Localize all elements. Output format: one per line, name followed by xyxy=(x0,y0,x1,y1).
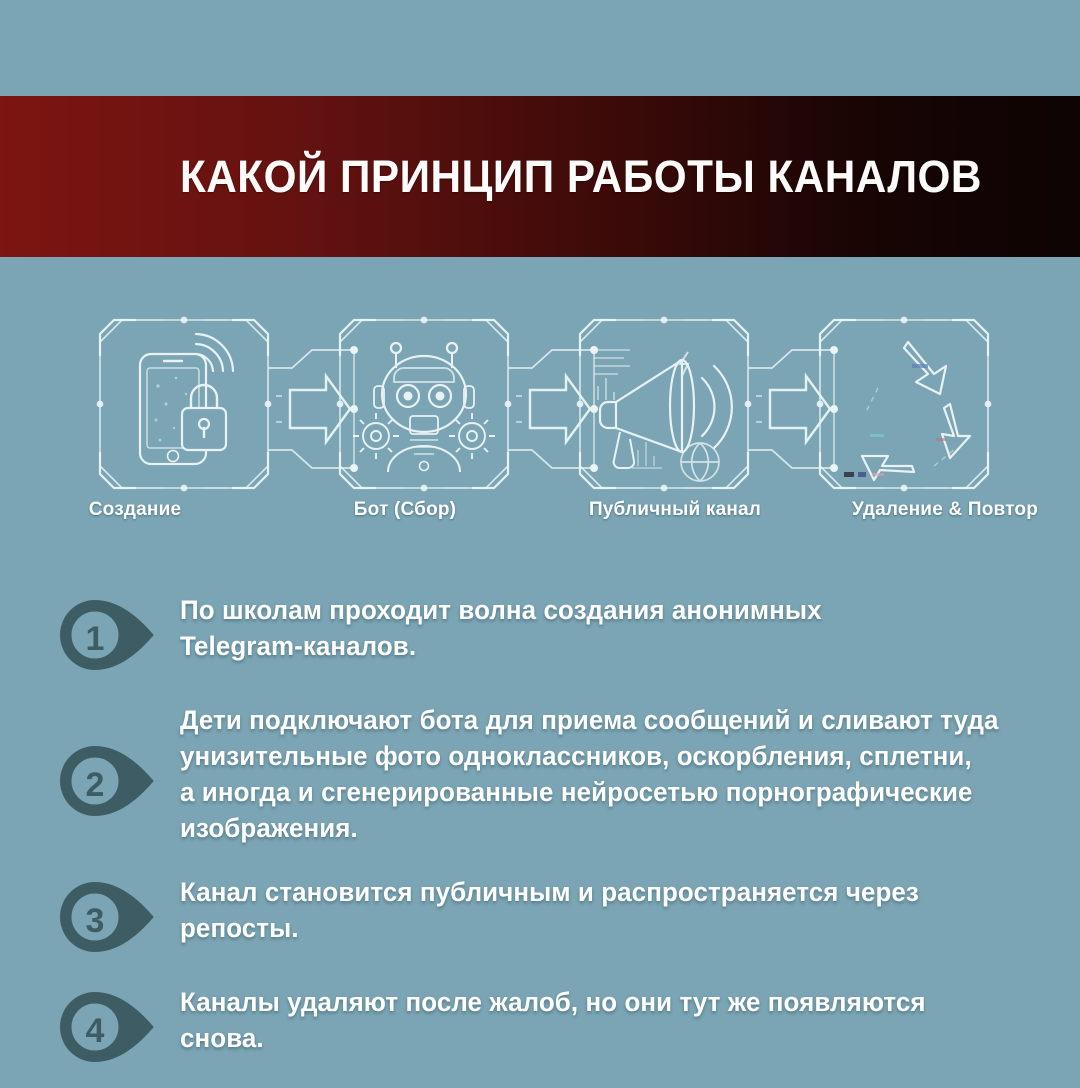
list-item: 1 По школам проходит волна создания анон… xyxy=(0,586,1080,674)
list-item: 3 Канал становится публичным и распростр… xyxy=(0,868,1080,956)
page-title: КАКОЙ ПРИНЦИП РАБОТЫ КАНАЛОВ xyxy=(180,151,982,203)
badge-shape-icon: 2 xyxy=(56,742,160,820)
number-badge-3: 3 xyxy=(56,878,160,956)
megaphone-broadcast-icon xyxy=(594,350,732,481)
list-item-text: Дети подключают бота для приема сообщени… xyxy=(180,696,999,846)
list-item-text: По школам проходит волна создания аноним… xyxy=(180,586,822,664)
list-item: 4 Каналы удаляют после жалоб, но они тут… xyxy=(0,978,1080,1066)
badge-shape-icon: 4 xyxy=(56,988,160,1066)
process-flow-diagram: Создание Бот (Сбор) Публичный канал Удал… xyxy=(0,296,1080,546)
badge-number: 4 xyxy=(86,1012,105,1050)
title-banner: КАКОЙ ПРИНЦИП РАБОТЫ КАНАЛОВ xyxy=(0,96,1080,257)
list-item-text: Каналы удаляют после жалоб, но они тут ж… xyxy=(180,978,926,1056)
badge-number: 2 xyxy=(86,766,105,804)
flow-stage-4 xyxy=(817,317,992,492)
number-badge-4: 4 xyxy=(56,988,160,1066)
infographic-page: КАКОЙ ПРИНЦИП РАБОТЫ КАНАЛОВ xyxy=(0,0,1080,1080)
badge-number: 3 xyxy=(86,902,105,940)
flow-stage-labels: Создание Бот (Сбор) Публичный канал Удал… xyxy=(0,499,1080,539)
flow-connector-2 xyxy=(508,346,598,472)
flow-stage-2 xyxy=(337,317,512,492)
numbered-list: 1 По школам проходит волна создания анон… xyxy=(0,586,1080,1088)
flow-connector-3 xyxy=(748,346,838,472)
robot-gears-icon xyxy=(353,343,495,472)
number-badge-2: 2 xyxy=(56,742,160,820)
list-item: 2 Дети подключают бота для приема сообще… xyxy=(0,696,1080,846)
flow-connector-1 xyxy=(268,346,358,472)
badge-shape-icon: 1 xyxy=(56,596,160,674)
badge-shape-icon: 3 xyxy=(56,878,160,956)
smartphone-lock-wifi-icon xyxy=(140,334,233,464)
flow-stage-label-3: Публичный канал xyxy=(540,499,810,539)
number-badge-1: 1 xyxy=(56,596,160,674)
recycle-arrows-icon xyxy=(844,342,970,480)
badge-number: 1 xyxy=(86,620,105,658)
list-item-text: Канал становится публичным и распростран… xyxy=(180,868,919,946)
flow-stage-label-4: Удаление & Повтор xyxy=(810,499,1080,539)
flow-stage-3 xyxy=(577,317,752,492)
flow-stage-1 xyxy=(97,317,272,492)
flow-stage-label-1: Создание xyxy=(0,499,270,539)
flow-stage-label-2: Бот (Сбор) xyxy=(270,499,540,539)
